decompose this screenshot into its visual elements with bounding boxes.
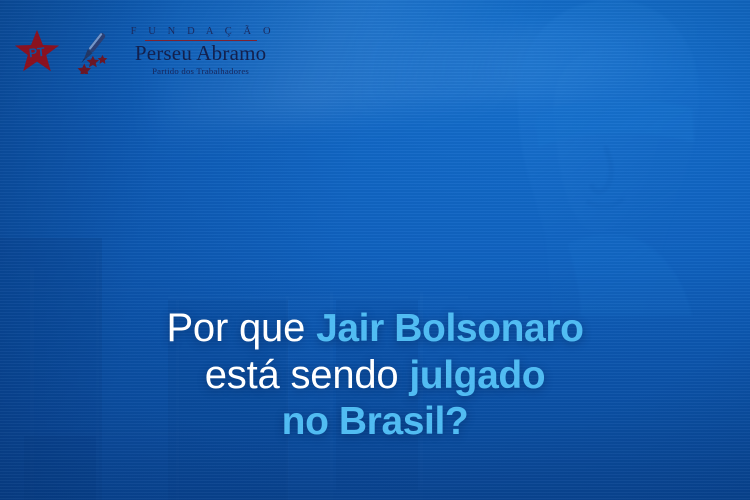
headline-line-1: Por que Jair Bolsonaro (0, 305, 750, 352)
headline-line-1-accent: Jair Bolsonaro (316, 307, 583, 350)
headline: Por que Jair Bolsonaro está sendo julgad… (0, 305, 750, 444)
logo-organization-name: Perseu Abramo (135, 43, 267, 64)
quill-pen-with-stars-icon (66, 28, 114, 74)
headline-line-1-plain: Por que (166, 306, 316, 350)
logo-party-line: Partido dos Trabalhadores (152, 67, 249, 76)
headline-line-2: está sendo julgado (0, 352, 750, 399)
logo-fundacao-word: F U N D A Ç Ã O (126, 27, 275, 38)
headline-line-3-accent: no Brasil? (282, 400, 469, 443)
headline-line-3: no Brasil? (0, 399, 750, 445)
headline-line-2-plain: está sendo (205, 353, 410, 397)
pt-star-icon: PT (14, 28, 60, 74)
headline-line-2-accent: julgado (409, 354, 545, 397)
svg-text:PT: PT (28, 45, 46, 61)
logo-text-block: F U N D A Ç Ã O Perseu Abramo Partido do… (126, 27, 275, 76)
fundacao-perseu-abramo-logo[interactable]: PT F U N D A Ç Ã O Perseu Abramo Partido… (14, 27, 275, 76)
social-card: PT F U N D A Ç Ã O Perseu Abramo Partido… (0, 0, 750, 500)
